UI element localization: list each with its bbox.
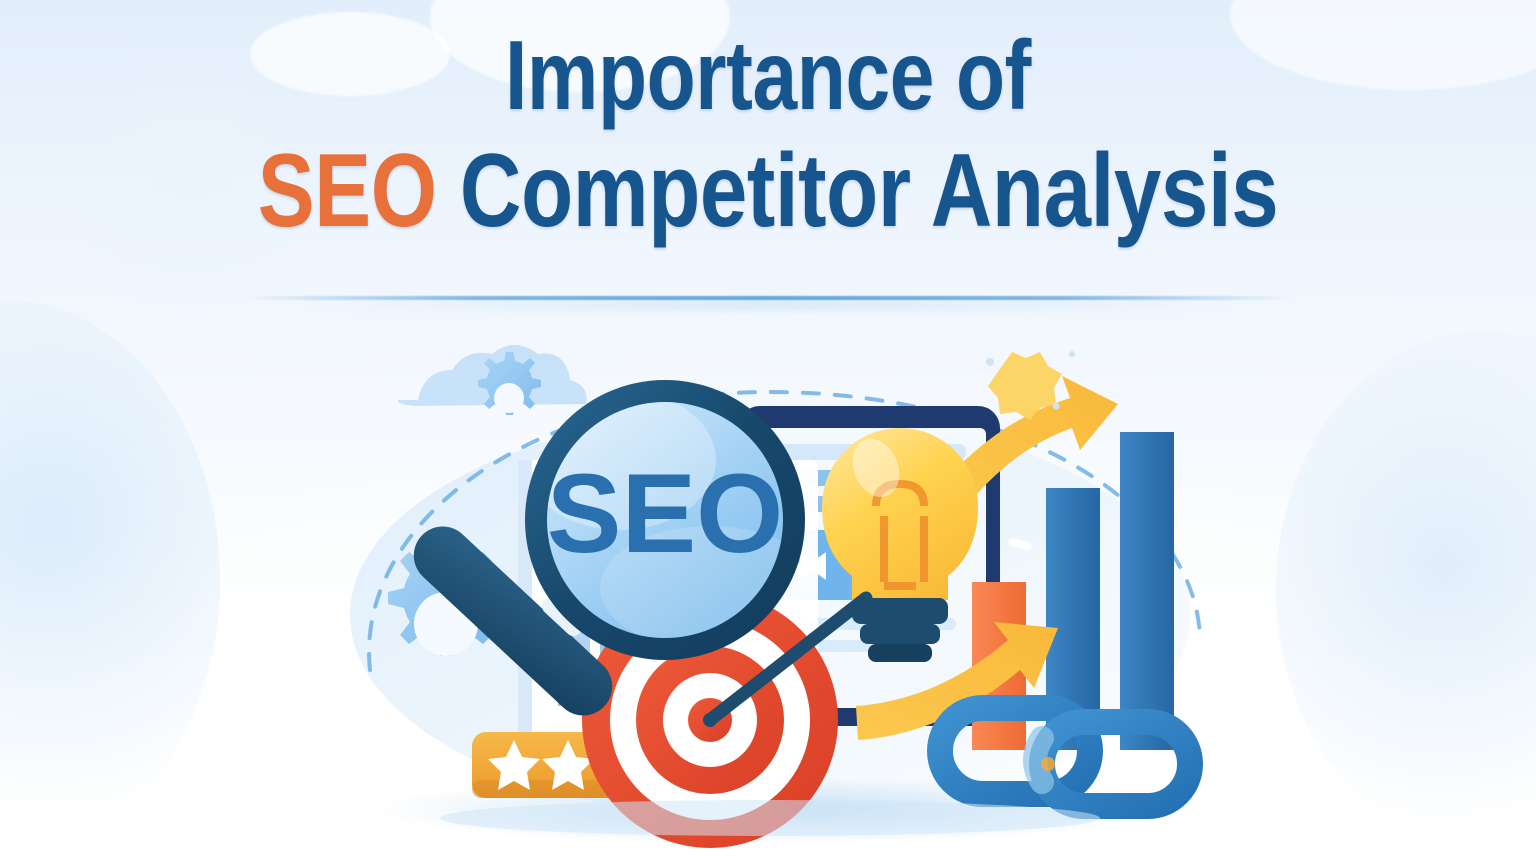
- title-highlight-seo: SEO: [258, 133, 437, 249]
- background-blob-right: [1276, 330, 1536, 850]
- magnifier-seo-label: SEO: [547, 451, 784, 576]
- title-line-1: Importance of: [138, 26, 1398, 126]
- hero-banner: Importance of SEO Competitor Analysis: [0, 0, 1536, 864]
- title-divider: [245, 296, 1291, 300]
- spark-dot-3: [1053, 403, 1060, 410]
- page-title: Importance of SEO Competitor Analysis: [0, 26, 1536, 244]
- background-blob-left: [0, 300, 220, 860]
- floor-highlight: [440, 800, 1100, 836]
- title-line-2-rest: Competitor Analysis: [460, 133, 1278, 249]
- title-line-2: SEO Competitor Analysis: [138, 138, 1398, 244]
- title-divider-glow: [300, 300, 1240, 310]
- spark-dot-2: [1069, 351, 1075, 357]
- spark-dot-1: [986, 358, 994, 366]
- bar-3: [1120, 432, 1174, 750]
- gear-icon-small: [478, 352, 541, 415]
- seo-illustration: SEO: [300, 340, 1240, 850]
- cloud-gear-group: [398, 345, 587, 415]
